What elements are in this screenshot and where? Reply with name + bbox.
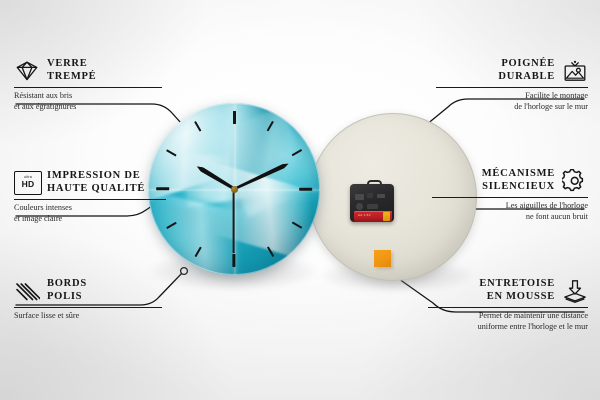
feature-description: Facilite le montage de l'horloge sur le …: [436, 91, 588, 111]
feature-divider: [14, 199, 166, 200]
feature-title-line2: TREMPÉ: [47, 71, 96, 82]
feature-divider: [14, 87, 162, 88]
feature-description: Couleurs intenses et image claire: [14, 203, 166, 223]
clock-hand-cap: [231, 186, 238, 193]
feature-title-line2: HAUTE QUALITÉ: [47, 183, 145, 194]
feature-verre-trempe: VERRE TREMPÉ Résistant aux bris et aux é…: [14, 58, 162, 112]
feature-divider: [436, 87, 588, 88]
feature-description: Résistant aux bris et aux égratignures: [14, 91, 162, 111]
feature-header: BORDS POLIS: [14, 278, 162, 303]
feature-divider: [428, 307, 588, 308]
mechanism-detail: [377, 194, 385, 198]
feature-poignee-durable: POIGNÉE DURABLE Facilite le montage de l…: [436, 58, 588, 112]
mechanism-detail: [367, 193, 373, 198]
picture-hanger-icon: [562, 59, 588, 83]
diamond-icon: [14, 59, 40, 83]
feature-title-line1: IMPRESSION DE: [47, 170, 140, 181]
feature-title-line2: POLIS: [47, 291, 82, 302]
battery: AA 1.5V: [354, 211, 392, 222]
feature-description: Permet de maintenir une distance uniform…: [428, 311, 588, 331]
feature-impression-haute-qualite: ultra HD IMPRESSION DE HAUTE QUALITÉ Cou…: [14, 170, 166, 224]
feature-header: ultra HD IMPRESSION DE HAUTE QUALITÉ: [14, 170, 166, 195]
second-hand: [233, 189, 235, 253]
feature-title-line1: VERRE: [47, 58, 88, 69]
feature-title-line1: POIGNÉE: [501, 58, 555, 69]
feature-divider: [432, 197, 588, 198]
battery-label: AA 1.5V: [358, 213, 371, 217]
battery-positive-terminal: [383, 212, 390, 221]
foam-spacer-pad: [374, 250, 391, 267]
arrow-down-stack-icon: [562, 279, 588, 303]
ultra-hd-main-label: HD: [22, 180, 35, 189]
feature-description: Les aiguilles de l'horloge ne font aucun…: [432, 201, 588, 221]
mechanism-detail: [355, 194, 364, 200]
feature-divider: [14, 307, 162, 308]
feature-header: VERRE TREMPÉ: [14, 58, 162, 83]
polished-edge-lines-icon: [14, 279, 40, 303]
quartz-mechanism: AA 1.5V: [350, 180, 394, 222]
feature-header: POIGNÉE DURABLE: [436, 58, 588, 83]
feature-header: ENTRETOISE EN MOUSSE: [428, 278, 588, 303]
feature-title-line2: DURABLE: [498, 71, 555, 82]
feature-description: Surface lisse et sûre: [14, 311, 162, 321]
gear-icon: [562, 169, 588, 193]
infographic-canvas: AA 1.5V: [0, 0, 600, 400]
feature-title-line2: EN MOUSSE: [487, 291, 555, 302]
feature-mecanisme-silencieux: MÉCANISME SILENCIEUX Les aiguilles de l'…: [432, 168, 588, 222]
mechanism-body: AA 1.5V: [350, 184, 394, 222]
feature-title-line1: MÉCANISME: [482, 168, 555, 179]
feature-title-line1: BORDS: [47, 278, 87, 289]
feature-title-line2: SILENCIEUX: [482, 181, 555, 192]
feature-header: MÉCANISME SILENCIEUX: [432, 168, 588, 193]
ultra-hd-icon: ultra HD: [14, 171, 40, 195]
feature-title-line1: ENTRETOISE: [479, 278, 555, 289]
mechanism-detail: [367, 204, 378, 209]
feature-entretoise-en-mousse: ENTRETOISE EN MOUSSE Permet de maintenir…: [428, 278, 588, 332]
feature-bords-polis: BORDS POLIS Surface lisse et sûre: [14, 278, 162, 322]
wall-clock: [148, 103, 320, 275]
mechanism-dial: [356, 203, 363, 210]
